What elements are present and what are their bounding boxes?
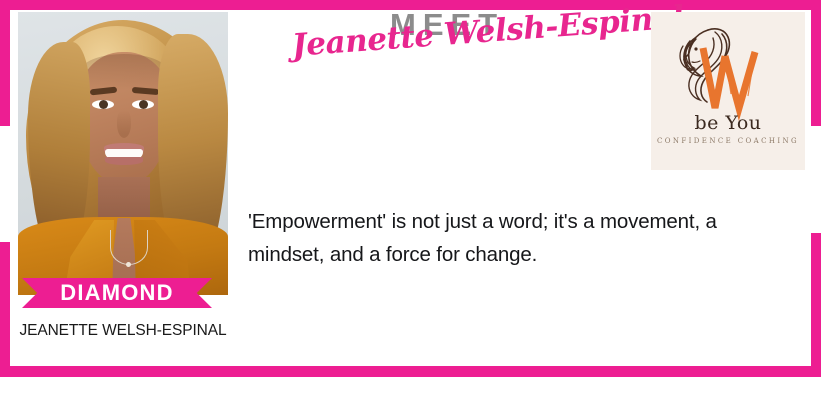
card-border-right-lower [811, 233, 821, 366]
card-border-left-upper [0, 10, 10, 126]
portrait-eye-left [92, 100, 114, 109]
portrait-eye-right [132, 100, 154, 109]
portrait-nose [117, 110, 131, 138]
card-border-right-upper [811, 10, 821, 126]
portrait-pendant [126, 262, 131, 267]
logo-brand-text: be You [651, 112, 805, 134]
tier-ribbon-badge: DIAMOND [22, 278, 212, 308]
logo-tagline-text: CONFIDENCE COACHING [651, 137, 805, 145]
speaker-portrait [18, 12, 228, 295]
card-border-bottom [0, 366, 821, 377]
portrait-forehead-shading [80, 54, 168, 90]
portrait-lower-lip [105, 157, 143, 165]
card-border-left-lower [0, 242, 10, 366]
portrait-iris-right [139, 100, 148, 109]
portrait-necklace [110, 230, 148, 265]
brand-logo: be You CONFIDENCE COACHING [651, 12, 805, 170]
tier-ribbon-label: DIAMOND [60, 282, 174, 304]
speaker-name-caption: JEANETTE WELSH-ESPINAL [18, 322, 228, 340]
speaker-announcement-card: DIAMOND JEANETTE WELSH-ESPINAL MEET Jean… [0, 0, 821, 378]
portrait-iris-left [99, 100, 108, 109]
logo-mark-icon [651, 12, 805, 124]
speaker-quote: 'Empowerment' is not just a word; it's a… [248, 205, 768, 271]
